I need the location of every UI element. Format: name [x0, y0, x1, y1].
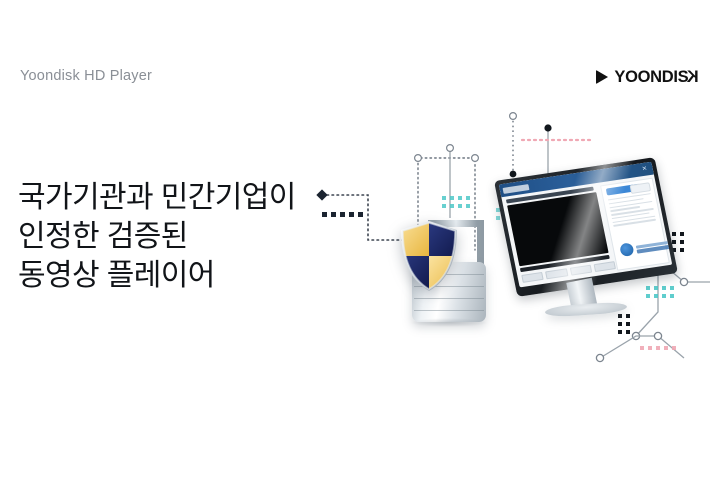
security-padlock [398, 220, 498, 330]
certification-seal-icon [619, 242, 634, 257]
player-button[interactable] [569, 265, 592, 276]
brand-word-main: YOONDIS [614, 68, 688, 86]
monitor-stand-base [545, 301, 628, 318]
monitor-screen: × [499, 162, 672, 288]
security-shield-icon [398, 220, 460, 292]
headline-line-1: 국가기관과 민간기업이 [18, 178, 296, 217]
brand-wordmark: YOONDISK [614, 68, 699, 87]
headline-line-3: 동영상 플레이어 [18, 256, 296, 295]
secondary-action-button[interactable] [630, 182, 652, 194]
brand-mirrored-k: K [687, 68, 699, 87]
player-button[interactable] [521, 272, 544, 283]
brand-logo: YOONDISK [596, 68, 699, 86]
desktop-monitor: × [505, 168, 685, 328]
headline-line-2: 인정한 검증된 [18, 217, 296, 256]
promo-slide: Yoondisk HD Player YOONDISK 국가기관과 민간기업이 … [0, 0, 720, 480]
close-icon[interactable]: × [640, 164, 650, 173]
video-area[interactable] [507, 192, 608, 266]
document-panel [600, 178, 670, 271]
play-triangle-icon [596, 70, 608, 84]
player-button[interactable] [545, 268, 568, 279]
hero-headline: 국가기관과 민간기업이 인정한 검증된 동영상 플레이어 [18, 178, 296, 295]
player-logo [502, 184, 529, 194]
monitor-bezel: × [494, 157, 678, 297]
app-title: Yoondisk HD Player [20, 68, 152, 84]
document-text-lines [608, 193, 657, 229]
hero-illustration: × [300, 100, 720, 380]
padlock-shadow [410, 318, 488, 327]
player-button[interactable] [593, 261, 616, 272]
